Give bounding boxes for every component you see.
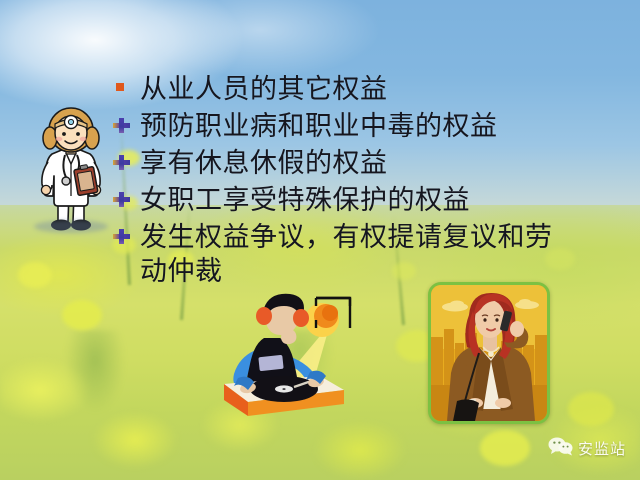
cross-bullet-icon xyxy=(112,183,140,217)
bullet-text: 女职工享受特殊保护的权益 xyxy=(140,183,470,217)
wechat-icon xyxy=(548,436,574,461)
list-item: 从业人员的其它权益 xyxy=(112,72,612,106)
nurse-shadow xyxy=(34,220,108,233)
bullet-text: 发生权益争议，有权提请复议和劳动仲裁 xyxy=(140,220,560,288)
businesswoman-phone-photo xyxy=(428,282,550,424)
dj-turntable-clipart xyxy=(202,286,374,424)
watermark-label: 安监站 xyxy=(578,438,626,459)
square-bullet-icon xyxy=(112,72,140,106)
list-item: 女职工享受特殊保护的权益 xyxy=(112,183,612,217)
cross-bullet-icon xyxy=(112,220,140,254)
bullet-text: 享有休息休假的权益 xyxy=(140,146,388,180)
cross-bullet-icon xyxy=(112,146,140,180)
bullet-list: 从业人员的其它权益 预防职业病和职业中毒的权益 享有休息休假的权益 女职工享受特… xyxy=(112,72,612,291)
bullet-text: 预防职业病和职业中毒的权益 xyxy=(140,109,498,143)
presentation-slide: 从业人员的其它权益 预防职业病和职业中毒的权益 享有休息休假的权益 女职工享受特… xyxy=(0,0,640,480)
list-item: 享有休息休假的权益 xyxy=(112,146,612,180)
nurse-doctor-clipart xyxy=(28,106,114,234)
watermark: 安监站 xyxy=(548,436,626,461)
cross-bullet-icon xyxy=(112,109,140,143)
list-item: 预防职业病和职业中毒的权益 xyxy=(112,109,612,143)
bullet-text: 从业人员的其它权益 xyxy=(140,72,388,106)
list-item: 发生权益争议，有权提请复议和劳动仲裁 xyxy=(112,220,612,288)
